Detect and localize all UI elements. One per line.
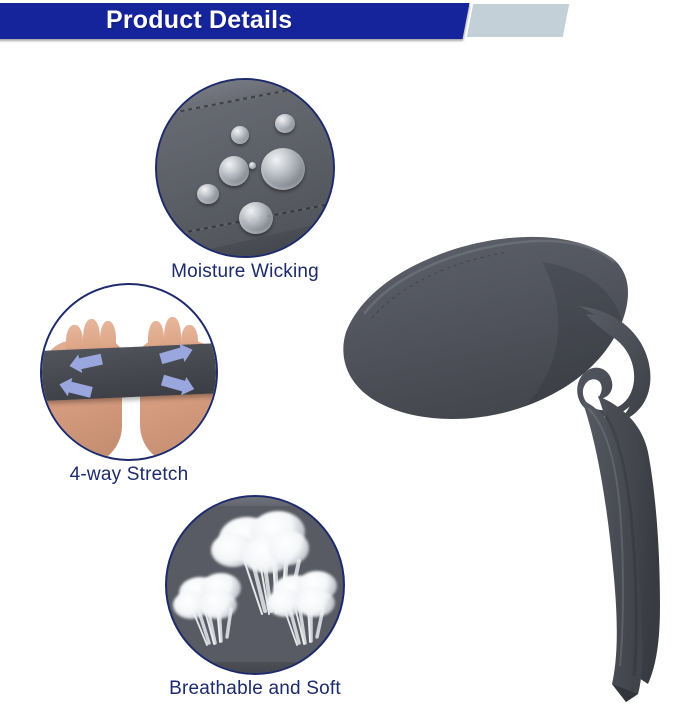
feature-four-way-stretch: 4-way Stretch (40, 283, 218, 488)
puff-cloud-e (269, 531, 309, 565)
feature-stretch-image (40, 283, 218, 461)
droplet-medium (219, 156, 249, 186)
arrow-down-right (160, 373, 196, 395)
droplet-small-left (197, 184, 219, 204)
page-title: Product Details (106, 4, 436, 38)
arrow-down-left (58, 377, 94, 399)
headband-illustration (330, 210, 679, 706)
droplet-small-right (275, 114, 295, 133)
product-details-page: Product Details Moisture Wicking (0, 0, 679, 706)
feature-moisture-wicking: Moisture Wicking (155, 78, 335, 283)
feature-breathable-image (165, 495, 345, 675)
feature-moisture-label: Moisture Wicking (171, 261, 319, 283)
feature-breathable-label: Breathable and Soft (169, 678, 341, 700)
droplet-tiny (249, 162, 256, 169)
cotton-puff-left (173, 573, 249, 655)
breathable-bottom-edge (165, 662, 345, 675)
feature-stretch-label: 4-way Stretch (70, 464, 189, 486)
breathable-top-edge (165, 495, 345, 506)
arrow-up-right (158, 343, 194, 365)
droplet-large (261, 148, 305, 190)
arrow-up-left (68, 351, 104, 373)
header-accent-shape (467, 4, 569, 37)
feature-breathable-soft: Breathable and Soft (165, 495, 345, 700)
feature-moisture-image (155, 78, 335, 258)
droplet-small-top (231, 126, 249, 144)
puff-left-d (199, 591, 237, 619)
puff-right-d (295, 589, 335, 617)
droplet-lower (239, 202, 273, 234)
product-image-headband (330, 210, 679, 706)
